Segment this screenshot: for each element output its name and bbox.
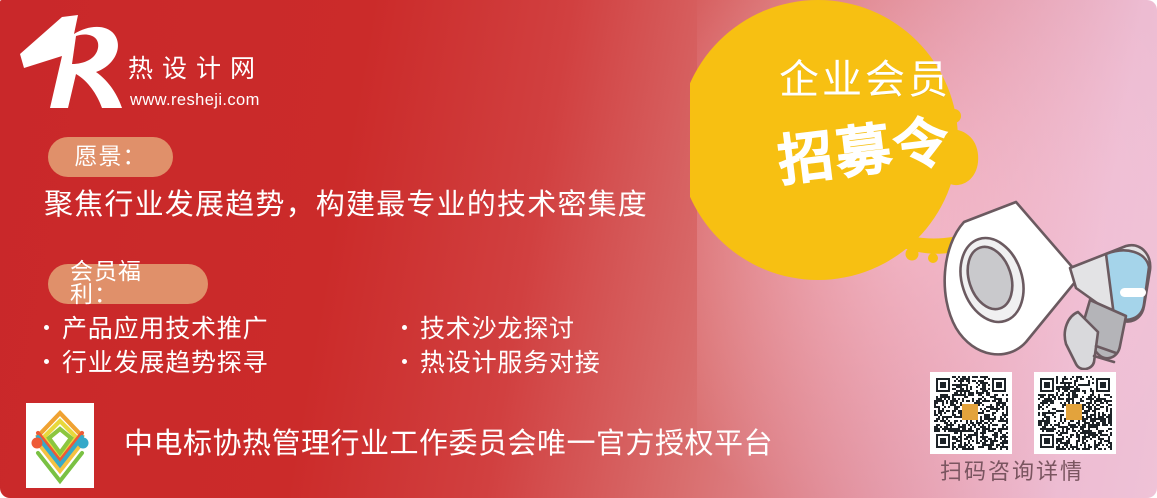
list-item: 行业发展趋势探寻 xyxy=(44,346,268,380)
list-item: 产品应用技术推广 xyxy=(44,312,268,346)
benefits-pill-label: 会员福利： xyxy=(70,261,186,307)
benefits-column-left: 产品应用技术推广 行业发展趋势探寻 xyxy=(44,312,268,380)
site-name: 热设计网 xyxy=(128,56,264,81)
list-item-label: 行业发展趋势探寻 xyxy=(62,346,268,380)
vision-pill: 愿景： xyxy=(48,137,173,177)
vision-text: 聚焦行业发展趋势，构建最专业的技术密集度 xyxy=(44,190,648,219)
list-item: 技术沙龙探讨 xyxy=(402,312,601,346)
list-item: 热设计服务对接 xyxy=(402,346,601,380)
bullet-dot-icon xyxy=(402,359,407,364)
vision-pill-label: 愿景： xyxy=(75,146,147,169)
bullet-dot-icon xyxy=(44,359,49,364)
footer-authorization: 中电标协热管理行业工作委员会唯一官方授权平台 xyxy=(26,403,773,488)
stylized-r-logo-icon xyxy=(18,12,128,112)
bullet-dot-icon xyxy=(44,325,49,330)
list-item-label: 热设计服务对接 xyxy=(420,346,601,380)
membership-recruitment-banner: 企业会员 招募令 热设计网 www.resheji.com xyxy=(0,0,1157,498)
benefits-pill: 会员福利： xyxy=(48,264,208,304)
callout-line-1: 企业会员 xyxy=(750,60,980,100)
qr-section: 扫码咨询详情 xyxy=(930,372,1150,484)
site-logo[interactable]: 热设计网 www.resheji.com xyxy=(18,12,298,112)
benefits-column-right: 技术沙龙探讨 热设计服务对接 xyxy=(402,312,601,380)
bullet-dot-icon xyxy=(402,325,407,330)
megaphone-icon xyxy=(930,150,1157,370)
qr-code-left[interactable] xyxy=(930,372,1012,454)
list-item-label: 产品应用技术推广 xyxy=(62,312,268,346)
qr-caption: 扫码咨询详情 xyxy=(930,462,1150,484)
site-url: www.resheji.com xyxy=(130,92,260,109)
list-item-label: 技术沙龙探讨 xyxy=(420,312,575,346)
qr-row xyxy=(930,372,1150,454)
chevron-rainbow-logo-icon xyxy=(26,403,94,488)
footer-text: 中电标协热管理行业工作委员会唯一官方授权平台 xyxy=(124,429,773,462)
qr-code-right[interactable] xyxy=(1034,372,1116,454)
association-logo xyxy=(26,403,94,488)
